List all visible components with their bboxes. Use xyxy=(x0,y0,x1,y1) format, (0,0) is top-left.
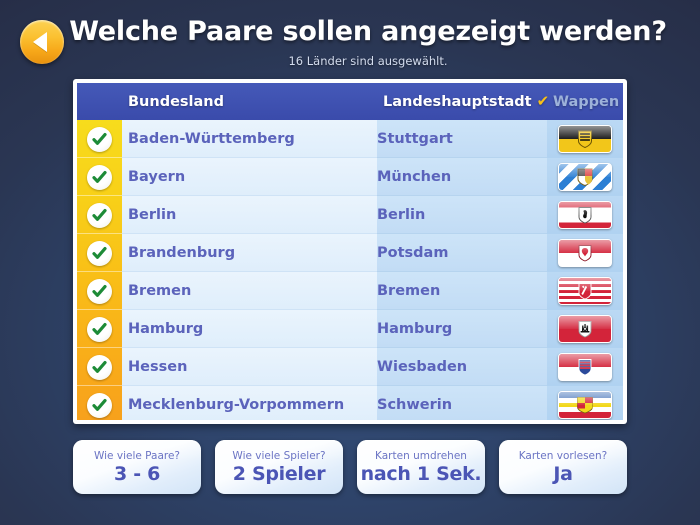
cell-wappen xyxy=(547,386,623,421)
row-checkbox[interactable] xyxy=(77,386,122,420)
table-header-row: Bundesland Landeshauptstadt ✔ Wappen xyxy=(77,83,623,120)
table-row[interactable]: Berlin Berlin xyxy=(77,196,623,234)
flag-hessen-icon xyxy=(558,353,612,381)
table-row[interactable]: Mecklenburg-Vorpommern Schwerin xyxy=(77,386,623,420)
cell-bundesland: Hamburg xyxy=(122,310,377,348)
cell-landeshauptstadt: Stuttgart xyxy=(377,120,547,158)
option-value: Ja xyxy=(553,463,572,485)
check-icon xyxy=(87,279,112,304)
row-divider xyxy=(77,195,122,196)
pairs-table: Bundesland Landeshauptstadt ✔ Wappen Bad… xyxy=(73,79,627,424)
option-value: nach 1 Sek. xyxy=(361,463,482,485)
cell-wappen xyxy=(547,310,623,349)
check-icon xyxy=(87,203,112,228)
cell-landeshauptstadt: München xyxy=(377,158,547,196)
column-header-bundesland[interactable]: Bundesland xyxy=(122,94,383,110)
option-label: Wie viele Spieler? xyxy=(232,450,325,462)
cell-wappen xyxy=(547,348,623,387)
row-checkbox[interactable] xyxy=(77,120,122,158)
table-row[interactable]: Baden-Württemberg Stuttgart xyxy=(77,120,623,158)
table-row[interactable]: Brandenburg Potsdam xyxy=(77,234,623,272)
row-checkbox[interactable] xyxy=(77,234,122,272)
cell-bundesland: Bremen xyxy=(122,272,377,310)
row-divider xyxy=(77,347,122,348)
column-header-landeshauptstadt-label: Landeshauptstadt xyxy=(383,94,532,110)
row-divider xyxy=(77,271,122,272)
cell-landeshauptstadt: Bremen xyxy=(377,272,547,310)
cell-bundesland: Brandenburg xyxy=(122,234,377,272)
flag-brandenburg-icon xyxy=(558,239,612,267)
check-icon xyxy=(87,165,112,190)
cell-wappen xyxy=(547,234,623,273)
option-button[interactable]: Karten vorlesen? Ja xyxy=(499,440,627,494)
option-button[interactable]: Wie viele Paare? 3 - 6 xyxy=(73,440,201,494)
option-value: 3 - 6 xyxy=(114,463,160,485)
cell-landeshauptstadt: Wiesbaden xyxy=(377,348,547,386)
cell-landeshauptstadt: Hamburg xyxy=(377,310,547,348)
cell-bundesland: Bayern xyxy=(122,158,377,196)
options-bar: Wie viele Paare? 3 - 6Wie viele Spieler?… xyxy=(73,440,627,494)
table-body: Baden-Württemberg Stuttgart Bayern Münch… xyxy=(77,120,623,420)
row-checkbox[interactable] xyxy=(77,196,122,234)
check-icon xyxy=(87,393,112,418)
column-header-landeshauptstadt[interactable]: Landeshauptstadt ✔ xyxy=(383,94,553,110)
flag-mecklenburg-vorpommern-icon xyxy=(558,391,612,419)
row-divider xyxy=(77,385,122,386)
option-label: Karten umdrehen xyxy=(375,450,467,462)
flag-bremen-icon xyxy=(558,277,612,305)
option-label: Wie viele Paare? xyxy=(94,450,180,462)
check-icon xyxy=(87,317,112,342)
page-title: Welche Paare sollen angezeigt werden? xyxy=(0,16,700,47)
cell-wappen xyxy=(547,272,623,311)
flag-baden-wuerttemberg-icon xyxy=(558,125,612,153)
cell-landeshauptstadt: Potsdam xyxy=(377,234,547,272)
check-icon xyxy=(87,127,112,152)
flag-bayern-icon xyxy=(558,163,612,191)
column-header-wappen[interactable]: Wappen xyxy=(553,94,623,110)
row-checkbox[interactable] xyxy=(77,310,122,348)
cell-bundesland: Baden-Württemberg xyxy=(122,120,377,158)
cell-landeshauptstadt: Schwerin xyxy=(377,386,547,420)
cell-bundesland: Mecklenburg-Vorpommern xyxy=(122,386,377,420)
cell-bundesland: Berlin xyxy=(122,196,377,234)
flag-hamburg-icon xyxy=(558,315,612,343)
option-value: 2 Spieler xyxy=(233,463,326,485)
row-divider xyxy=(77,309,122,310)
cell-wappen xyxy=(547,158,623,197)
option-label: Karten vorlesen? xyxy=(519,450,608,462)
table-row[interactable]: Hessen Wiesbaden xyxy=(77,348,623,386)
option-button[interactable]: Karten umdrehen nach 1 Sek. xyxy=(357,440,485,494)
cell-bundesland: Hessen xyxy=(122,348,377,386)
row-divider xyxy=(77,157,122,158)
row-checkbox[interactable] xyxy=(77,348,122,386)
flag-berlin-icon xyxy=(558,201,612,229)
row-checkbox[interactable] xyxy=(77,158,122,196)
row-checkbox[interactable] xyxy=(77,272,122,310)
selection-count-subtitle: 16 Länder sind ausgewählt. xyxy=(0,54,700,68)
check-icon xyxy=(87,355,112,380)
cell-wappen xyxy=(547,196,623,235)
check-icon xyxy=(87,241,112,266)
table-row[interactable]: Bayern München xyxy=(77,158,623,196)
option-button[interactable]: Wie viele Spieler? 2 Spieler xyxy=(215,440,343,494)
cell-landeshauptstadt: Berlin xyxy=(377,196,547,234)
table-row[interactable]: Bremen Bremen xyxy=(77,272,623,310)
table-row[interactable]: Hamburg Hamburg xyxy=(77,310,623,348)
row-divider xyxy=(77,233,122,234)
cell-wappen xyxy=(547,120,623,159)
check-icon: ✔ xyxy=(537,94,550,109)
